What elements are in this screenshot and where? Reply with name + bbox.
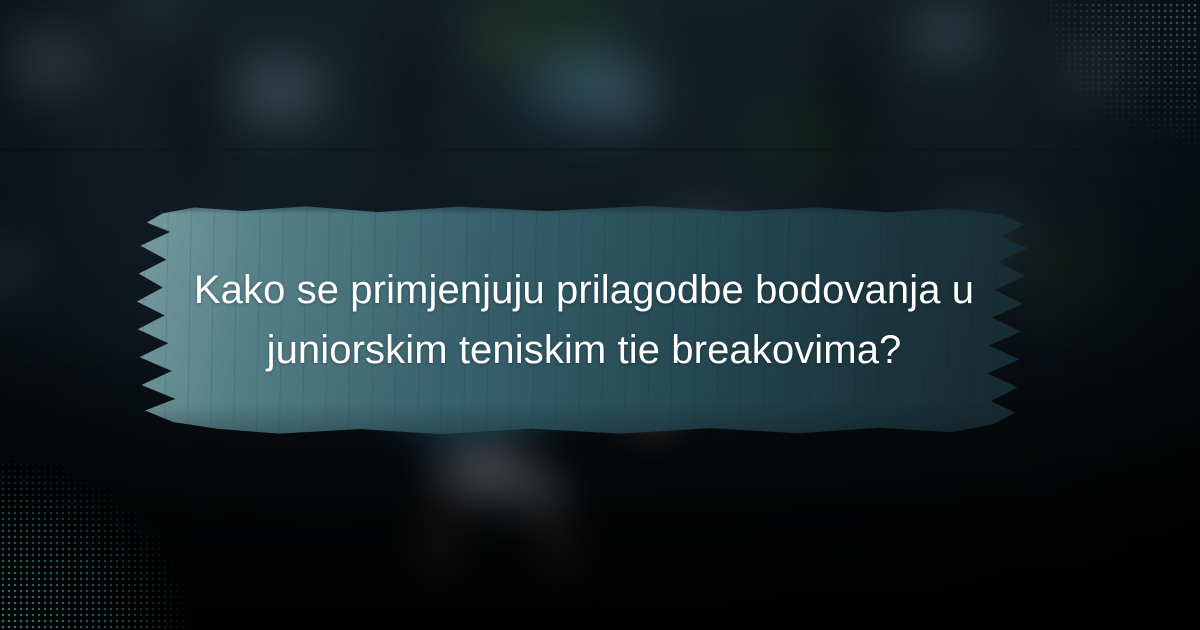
headline-banner: Kako se primjenjuju prilagodbe bodovanja… (136, 204, 1032, 436)
social-question-card: Kako se primjenjuju prilagodbe bodovanja… (0, 0, 1200, 630)
headline-line-1: Kako se primjenjuju prilagodbe bodovanja… (194, 262, 974, 318)
headline-text-block: Kako se primjenjuju prilagodbe bodovanja… (136, 204, 1032, 436)
headline-line-2: juniorskim teniskim tie breakovima? (267, 322, 902, 378)
